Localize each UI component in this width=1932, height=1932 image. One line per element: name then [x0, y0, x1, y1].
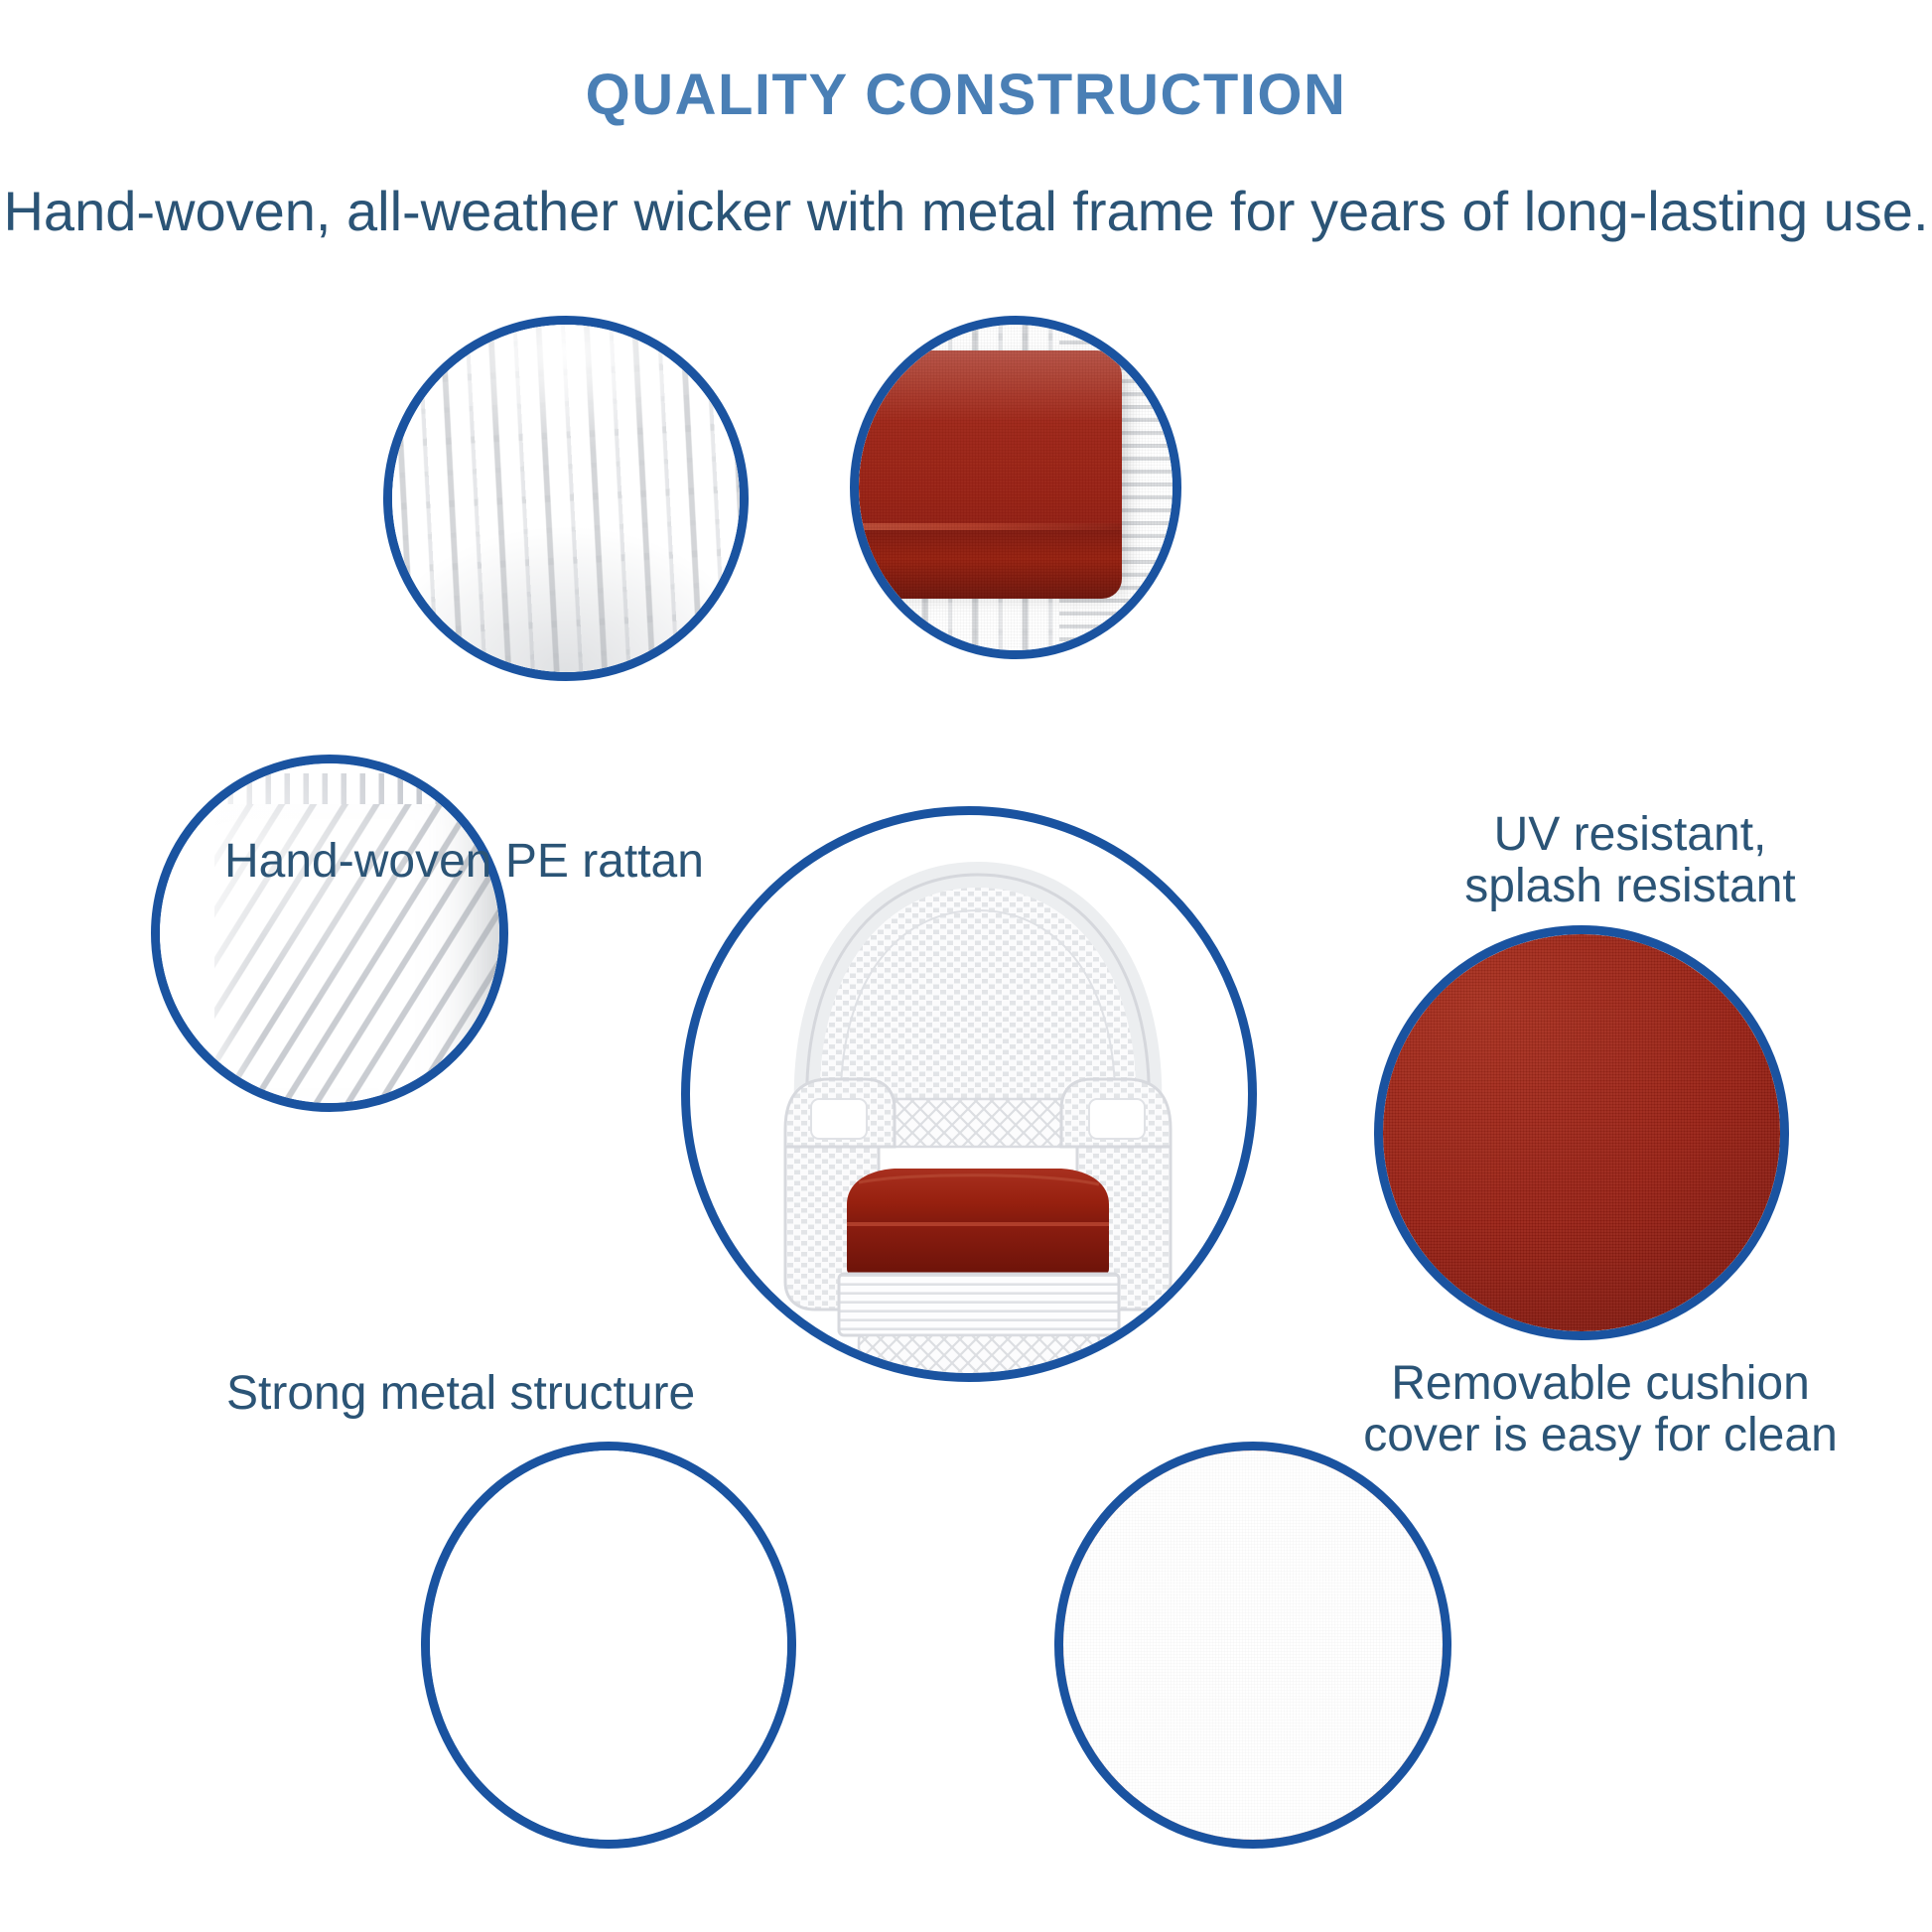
infographic-canvas: QUALITY CONSTRUCTION Hand-woven, all-wea… — [0, 0, 1932, 1932]
feature-circle-removable-cushion-cover — [1374, 925, 1789, 1340]
label-strong-metal-structure: Strong metal structure — [226, 1368, 695, 1420]
feature-circle-uv-splash-resistant — [850, 316, 1181, 659]
feature-circle-chair-leg-detail — [421, 1442, 796, 1849]
label-uv-splash-resistant: UV resistant, splash resistant — [1422, 809, 1839, 912]
red-cushion-on-wicker-image — [859, 325, 1173, 650]
wicker-leg-image — [430, 1450, 787, 1840]
water-droplets-on-fabric-image — [1383, 934, 1780, 1331]
page-subtitle: Hand-woven, all-weather wicker with meta… — [0, 179, 1932, 243]
wicker-weave-image — [392, 325, 740, 672]
label-removable-cushion-cover: Removable cushion cover is easy for clea… — [1342, 1358, 1859, 1461]
label-hand-woven-pe-rattan: Hand-woven PE rattan — [224, 836, 704, 888]
wicker-armchair-image — [690, 815, 1248, 1373]
feature-circle-hand-woven-pe-rattan — [383, 316, 749, 681]
chair-illustration — [690, 815, 1248, 1373]
wicker-arm-corner-image — [160, 763, 499, 1103]
cushion-zipper-image — [1063, 1450, 1443, 1840]
feature-circle-cushion-zipper-detail — [1054, 1442, 1451, 1849]
page-title: QUALITY CONSTRUCTION — [0, 62, 1932, 128]
feature-circle-strong-metal-structure — [151, 755, 508, 1112]
center-chair-circle — [681, 806, 1257, 1382]
